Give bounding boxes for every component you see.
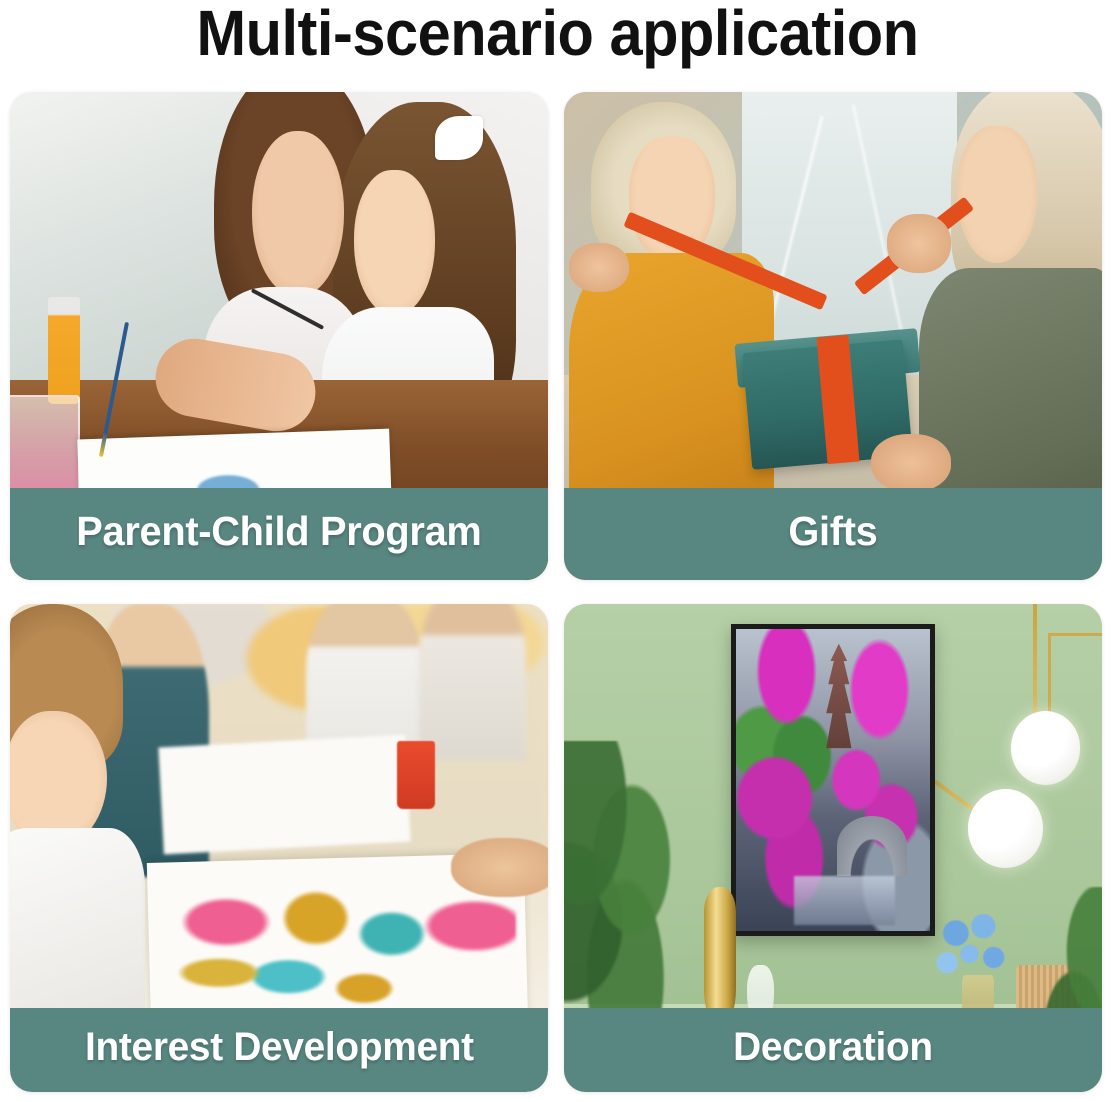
- caption-label: Interest Development: [85, 1025, 474, 1070]
- scenario-card-decoration[interactable]: Decoration: [564, 604, 1102, 1092]
- globe-lamp-2: [968, 789, 1043, 867]
- palm-plant-left: [564, 741, 693, 1053]
- other-child-hand: [451, 838, 548, 897]
- scenario-card-parent-child-program[interactable]: Parent-Child Program: [10, 92, 548, 580]
- caption-label: Gifts: [788, 508, 877, 555]
- pagoda-artwork: [736, 629, 930, 931]
- promo-graphic: Multi-scenario application: [0, 0, 1115, 1102]
- picture-frame: [731, 624, 935, 936]
- scenario-card-gifts[interactable]: Gifts: [564, 92, 1102, 580]
- scenario-card-interest-development[interactable]: Interest Development: [10, 604, 548, 1092]
- river-water: [794, 876, 895, 924]
- page-title: Multi-scenario application: [39, 0, 1076, 72]
- stone-bridge: [837, 816, 907, 876]
- caption-bar-parent-child-program: Parent-Child Program: [10, 488, 548, 580]
- caption-bar-decoration: Decoration: [564, 1008, 1102, 1092]
- background-child-3: [419, 604, 527, 760]
- scenario-card-grid: Parent-Child Program: [10, 92, 1102, 1092]
- caption-bar-interest-development: Interest Development: [10, 1008, 548, 1092]
- background-paper: [158, 734, 411, 854]
- caption-label: Parent-Child Program: [76, 508, 481, 555]
- globe-lamp-1: [1011, 711, 1081, 784]
- gold-sculpture: [704, 887, 736, 1024]
- blue-flowers: [930, 907, 1016, 995]
- orange-bottle: [48, 297, 80, 404]
- caption-bar-gifts: Gifts: [564, 488, 1102, 580]
- mother-face: [252, 131, 343, 297]
- child-face: [354, 170, 435, 316]
- caption-label: Decoration: [733, 1025, 933, 1070]
- woman-hand-pulling-ribbon: [887, 214, 952, 273]
- pink-water-glass: [10, 395, 80, 502]
- pagoda-tower: [821, 644, 856, 789]
- girl-hand: [569, 243, 628, 292]
- woman-face: [957, 126, 1038, 263]
- woman-hand-holding-box: [871, 434, 952, 493]
- red-cup: [397, 741, 435, 809]
